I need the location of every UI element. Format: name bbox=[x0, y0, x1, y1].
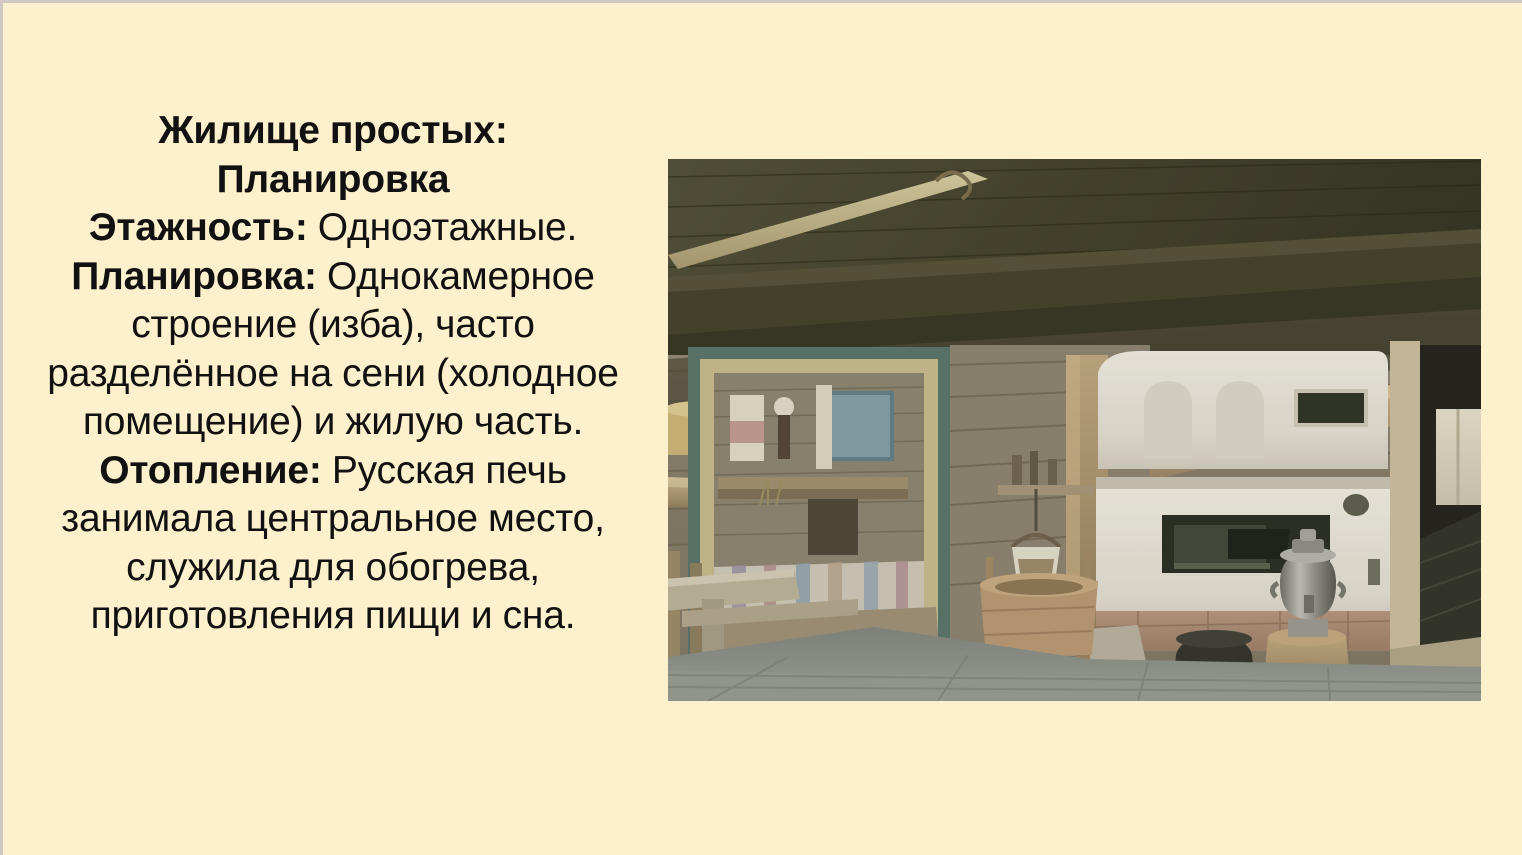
fact-body-storeys: Одноэтажные. bbox=[308, 206, 578, 249]
fact-label-layout: Планировка: bbox=[71, 255, 317, 298]
fact-item-heating: Отопление: Русская печь занимала централ… bbox=[13, 447, 653, 641]
slide: Жилище простых: Планировка Этажность: Од… bbox=[0, 0, 1522, 855]
izba-interior-illustration bbox=[668, 159, 1481, 701]
slide-text-block: Жилище простых: Планировка Этажность: Од… bbox=[13, 107, 653, 641]
fact-label-storeys: Этажность: bbox=[89, 206, 308, 249]
photo-color-tint bbox=[668, 159, 1481, 701]
slide-title-line-1: Жилище простых: bbox=[13, 107, 653, 156]
slide-title-line-2: Планировка bbox=[13, 156, 653, 205]
fact-item-storeys: Этажность: Одноэтажные. bbox=[13, 204, 653, 253]
fact-label-heating: Отопление: bbox=[99, 449, 321, 492]
izba-interior-photo bbox=[668, 159, 1481, 701]
fact-item-layout: Планировка: Однокамерное строение (изба)… bbox=[13, 253, 653, 447]
